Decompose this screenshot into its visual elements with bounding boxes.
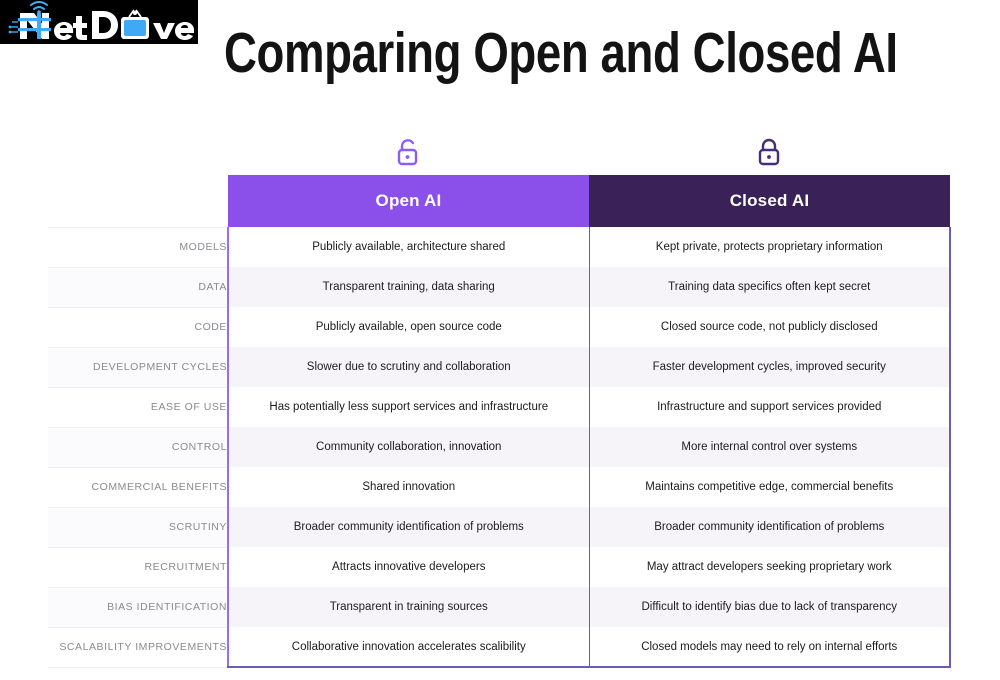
cell-closed-ai: Kept private, protects proprietary infor… [589, 227, 950, 267]
cell-closed-ai: Closed source code, not publicly disclos… [589, 307, 950, 347]
cell-open-ai: Attracts innovative developers [228, 547, 589, 587]
table-header-row: Open AI Closed AI [48, 175, 950, 227]
table-row: COMMERCIAL BENEFITSShared innovationMain… [48, 467, 950, 507]
table-row: EASE OF USEHas potentially less support … [48, 387, 950, 427]
table-row: MODELSPublicly available, architecture s… [48, 227, 950, 267]
header-spacer [48, 175, 228, 227]
table-row: BIAS IDENTIFICATIONTransparent in traini… [48, 587, 950, 627]
cell-closed-ai: Infrastructure and support services prov… [589, 387, 950, 427]
cell-open-ai: Shared innovation [228, 467, 589, 507]
cell-closed-ai: Closed models may need to rely on intern… [589, 627, 950, 667]
cell-open-ai: Has potentially less support services an… [228, 387, 589, 427]
cell-open-ai: Transparent training, data sharing [228, 267, 589, 307]
cell-closed-ai: Faster development cycles, improved secu… [589, 347, 950, 387]
table-row: SCALABILITY IMPROVEMENTSCollaborative in… [48, 627, 950, 667]
row-label: EASE OF USE [48, 387, 228, 427]
cell-closed-ai: More internal control over systems [589, 427, 950, 467]
cell-open-ai: Slower due to scrutiny and collaboration [228, 347, 589, 387]
cell-open-ai: Publicly available, open source code [228, 307, 589, 347]
cell-open-ai: Collaborative innovation accelerates sca… [228, 627, 589, 667]
brand-logo [0, 0, 198, 44]
cell-closed-ai: May attract developers seeking proprieta… [589, 547, 950, 587]
tv-icon [121, 10, 149, 39]
table-row: SCRUTINYBroader community identification… [48, 507, 950, 547]
comparison-table: Open AI Closed AI MODELSPublicly availab… [48, 175, 951, 668]
header-open-ai: Open AI [228, 175, 589, 227]
row-label: COMMERCIAL BENEFITS [48, 467, 228, 507]
cell-open-ai: Transparent in training sources [228, 587, 589, 627]
cell-closed-ai: Broader community identification of prob… [589, 507, 950, 547]
row-label: MODELS [48, 227, 228, 267]
closed-ai-icon-cell [588, 132, 949, 174]
row-label: BIAS IDENTIFICATION [48, 587, 228, 627]
table-row: DATATransparent training, data sharingTr… [48, 267, 950, 307]
cell-open-ai: Community collaboration, innovation [228, 427, 589, 467]
row-label: DATA [48, 267, 228, 307]
cell-closed-ai: Difficult to identify bias due to lack o… [589, 587, 950, 627]
open-ai-icon-cell [227, 132, 588, 174]
cell-open-ai: Broader community identification of prob… [228, 507, 589, 547]
row-label: CODE [48, 307, 228, 347]
cell-open-ai: Publicly available, architecture shared [228, 227, 589, 267]
cell-closed-ai: Training data specifics often kept secre… [589, 267, 950, 307]
row-label: SCRUTINY [48, 507, 228, 547]
row-label: DEVELOPMENT CYCLES [48, 347, 228, 387]
table-row: RECRUITMENTAttracts innovative developer… [48, 547, 950, 587]
table-row: CODEPublicly available, open source code… [48, 307, 950, 347]
cell-closed-ai: Maintains competitive edge, commercial b… [589, 467, 950, 507]
unlock-icon [395, 137, 421, 169]
row-label: RECRUITMENT [48, 547, 228, 587]
table-row: DEVELOPMENT CYCLESSlower due to scrutiny… [48, 347, 950, 387]
header-closed-ai: Closed AI [589, 175, 950, 227]
netdove-logo-icon [8, 1, 194, 43]
lock-icon [756, 137, 782, 169]
page-title: Comparing Open and Closed AI [224, 22, 816, 84]
row-label: CONTROL [48, 427, 228, 467]
row-label: SCALABILITY IMPROVEMENTS [48, 627, 228, 667]
column-icons-row [227, 132, 949, 174]
table-row: CONTROLCommunity collaboration, innovati… [48, 427, 950, 467]
